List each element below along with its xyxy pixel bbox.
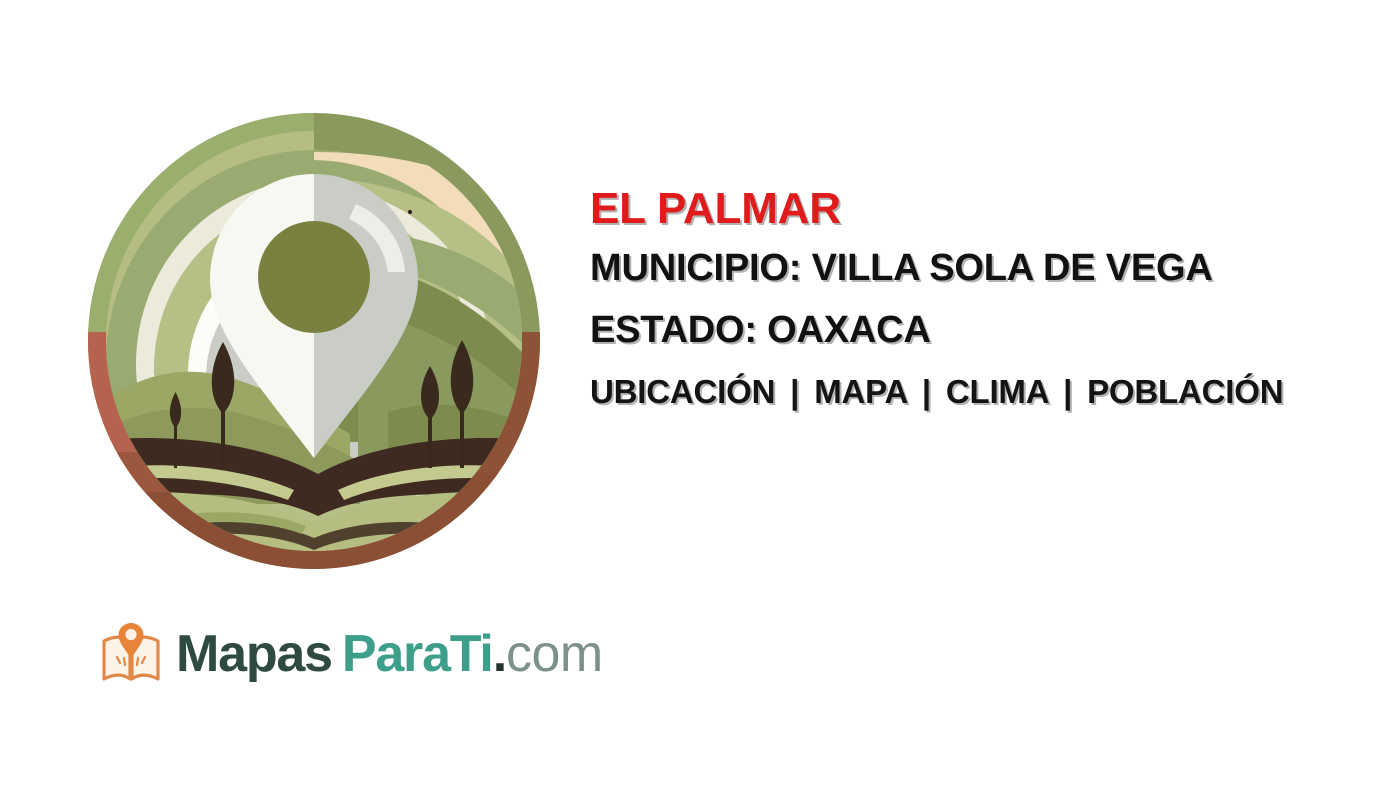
nav-separator: | [1057,373,1078,410]
page-root: EL PALMAR MUNICIPIO: VILLA SOLA DE VEGA … [0,0,1400,786]
brand-part-dot: . [493,625,506,683]
brand-part-mapas: Mapas [176,625,332,683]
brand-part-com: com [506,625,603,683]
page-title: EL PALMAR [590,183,1390,235]
brand-wordmark: MapasParaTi.com [176,628,603,680]
nav-link-ubicacion[interactable]: UBICACIÓN [590,373,775,410]
location-landscape-emblem [88,112,540,570]
emblem-speck [408,210,412,214]
nav-link-poblacion[interactable]: POBLACIÓN [1087,373,1283,410]
municipio-label: MUNICIPIO: VILLA SOLA DE VEGA [590,243,1390,293]
nav-separator: | [916,373,937,410]
nav-link-mapa[interactable]: MAPA [814,373,907,410]
nav-separator: | [784,373,805,410]
estado-label: ESTADO: OAXACA [590,305,1390,355]
section-nav: UBICACIÓN | MAPA | CLIMA | POBLACIÓN [590,371,1390,413]
place-info-block: EL PALMAR MUNICIPIO: VILLA SOLA DE VEGA … [590,183,1390,413]
site-logo[interactable]: MapasParaTi.com [100,616,603,692]
nav-link-clima[interactable]: CLIMA [946,373,1048,410]
brand-part-parati: ParaTi [342,625,493,683]
open-book-with-map-pin-icon [100,621,162,687]
